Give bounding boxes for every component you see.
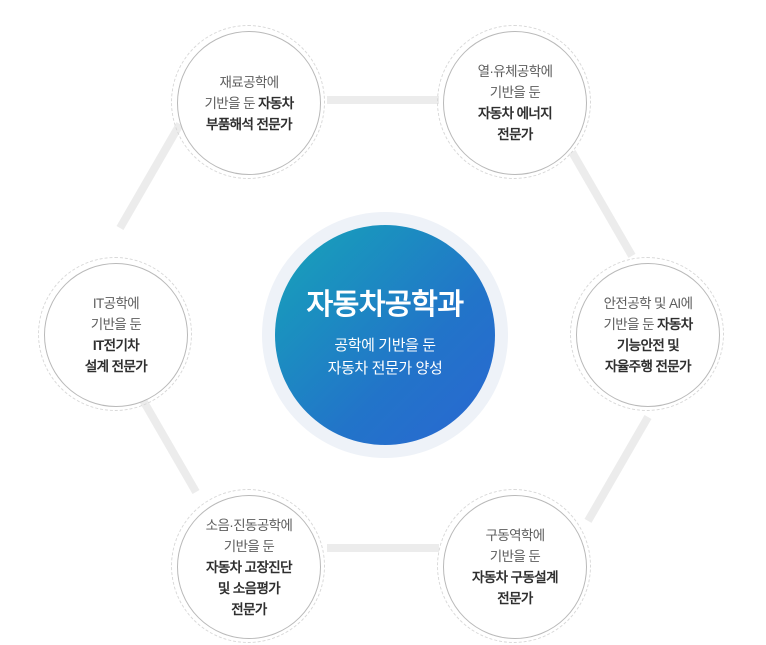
node-label-line-2: 기반을 둔 (472, 546, 558, 567)
node-label-line-3: 자동차 에너지 (478, 103, 553, 124)
node-label-emphasis: 자동차 (657, 317, 692, 332)
node-label-emphasis: 자동차 (258, 96, 293, 111)
node-label-line-4: 및 소음평가 (206, 578, 293, 599)
node-label-line-4: 자율주행 전문가 (603, 356, 692, 377)
node-label-emphasis: 자동차 고장진단 (206, 560, 292, 575)
node-label-plain: 기반을 둔 (91, 317, 141, 332)
node-circle[interactable]: 재료공학에기반을 둔 자동차부품해석 전문가 (177, 31, 321, 175)
node-top-left[interactable]: 재료공학에기반을 둔 자동차부품해석 전문가 (171, 25, 327, 181)
node-label-line-4: 전문가 (472, 588, 558, 609)
node-label: 구동역학에기반을 둔자동차 구동설계전문가 (472, 525, 558, 609)
node-circle[interactable]: 소음·진동공학에기반을 둔자동차 고장진단및 소음평가전문가 (177, 495, 321, 639)
node-label-line-3: 자동차 구동설계 (472, 567, 558, 588)
node-label-emphasis: 및 소음평가 (218, 581, 280, 596)
node-label-emphasis: 자동차 에너지 (478, 106, 552, 121)
node-label-emphasis: 전문가 (231, 602, 266, 617)
node-label-line-2: 기반을 둔 (478, 82, 553, 103)
node-circle[interactable]: 구동역학에기반을 둔자동차 구동설계전문가 (443, 495, 587, 639)
node-label-plain: 기반을 둔 (603, 317, 657, 332)
center-subtitle: 공학에 기반을 둔 자동차 전문가 양성 (328, 335, 443, 380)
connector-top-left-to-top-right (327, 96, 439, 104)
node-label-plain: 기반을 둔 (490, 549, 540, 564)
node-label-line-4: 전문가 (478, 124, 553, 145)
node-top-right[interactable]: 열·유체공학에기반을 둔자동차 에너지전문가 (437, 25, 593, 181)
node-left[interactable]: IT공학에기반을 둔IT전기차설계 전문가 (38, 257, 194, 413)
node-circle[interactable]: 안전공학 및 AI에기반을 둔 자동차기능안전 및자율주행 전문가 (576, 263, 720, 407)
node-label-line-3: 기능안전 및 (603, 335, 692, 356)
node-label-line-3: IT전기차 (85, 335, 147, 356)
node-label-line-3: 부품해석 전문가 (204, 114, 293, 135)
node-label: 소음·진동공학에기반을 둔자동차 고장진단및 소음평가전문가 (206, 515, 293, 620)
node-label-plain: 기반을 둔 (490, 85, 540, 100)
node-label-emphasis: 자율주행 전문가 (605, 359, 691, 374)
node-label-plain: IT공학에 (93, 296, 139, 311)
department-competency-diagram: 자동차공학과 공학에 기반을 둔 자동차 전문가 양성 재료공학에기반을 둔 자… (0, 0, 766, 645)
node-label-emphasis: 기능안전 및 (617, 338, 679, 353)
node-label-plain: 안전공학 및 AI에 (604, 296, 693, 311)
node-label-plain: 재료공학에 (219, 75, 278, 90)
node-label-line-2: 기반을 둔 자동차 (603, 314, 692, 335)
node-label: 안전공학 및 AI에기반을 둔 자동차기능안전 및자율주행 전문가 (603, 293, 692, 377)
node-label-plain: 기반을 둔 (204, 96, 258, 111)
node-label-emphasis: IT전기차 (93, 338, 139, 353)
node-label-plain: 소음·진동공학에 (206, 518, 293, 533)
node-label: IT공학에기반을 둔IT전기차설계 전문가 (85, 293, 147, 377)
node-label-line-1: 안전공학 및 AI에 (603, 293, 692, 314)
node-label-plain: 구동역학에 (485, 528, 544, 543)
connector-right-to-bottom-right (585, 415, 652, 523)
node-label-emphasis: 설계 전문가 (85, 359, 147, 374)
node-label-plain: 열·유체공학에 (478, 64, 553, 79)
connector-bottom-right-to-bottom-left (327, 544, 439, 552)
node-label-line-1: 구동역학에 (472, 525, 558, 546)
node-label-line-2: 기반을 둔 (85, 314, 147, 335)
node-label-line-2: 기반을 둔 자동차 (204, 93, 293, 114)
node-label-line-4: 설계 전문가 (85, 356, 147, 377)
node-label-line-1: IT공학에 (85, 293, 147, 314)
node-label-line-1: 열·유체공학에 (478, 61, 553, 82)
center-subtitle-line-1: 공학에 기반을 둔 (328, 335, 443, 358)
node-label-line-2: 기반을 둔 (206, 536, 293, 557)
node-label-emphasis: 부품해석 전문가 (206, 117, 292, 132)
node-circle[interactable]: 열·유체공학에기반을 둔자동차 에너지전문가 (443, 31, 587, 175)
node-label-line-3: 자동차 고장진단 (206, 557, 293, 578)
node-right[interactable]: 안전공학 및 AI에기반을 둔 자동차기능안전 및자율주행 전문가 (570, 257, 726, 413)
node-label-emphasis: 자동차 구동설계 (472, 570, 558, 585)
center-node[interactable]: 자동차공학과 공학에 기반을 둔 자동차 전문가 양성 (275, 225, 495, 445)
node-label-emphasis: 전문가 (497, 127, 532, 142)
node-label-line-1: 재료공학에 (204, 72, 293, 93)
node-bottom-left[interactable]: 소음·진동공학에기반을 둔자동차 고장진단및 소음평가전문가 (171, 489, 327, 645)
node-label-emphasis: 전문가 (497, 591, 532, 606)
node-label-plain: 기반을 둔 (224, 539, 274, 554)
node-label-line-5: 전문가 (206, 599, 293, 620)
center-title: 자동차공학과 (306, 290, 463, 322)
node-bottom-right[interactable]: 구동역학에기반을 둔자동차 구동설계전문가 (437, 489, 593, 645)
center-subtitle-line-2: 자동차 전문가 양성 (328, 358, 443, 381)
node-circle[interactable]: IT공학에기반을 둔IT전기차설계 전문가 (44, 263, 188, 407)
node-label-line-1: 소음·진동공학에 (206, 515, 293, 536)
node-label: 열·유체공학에기반을 둔자동차 에너지전문가 (478, 61, 553, 145)
node-label: 재료공학에기반을 둔 자동차부품해석 전문가 (204, 72, 293, 135)
